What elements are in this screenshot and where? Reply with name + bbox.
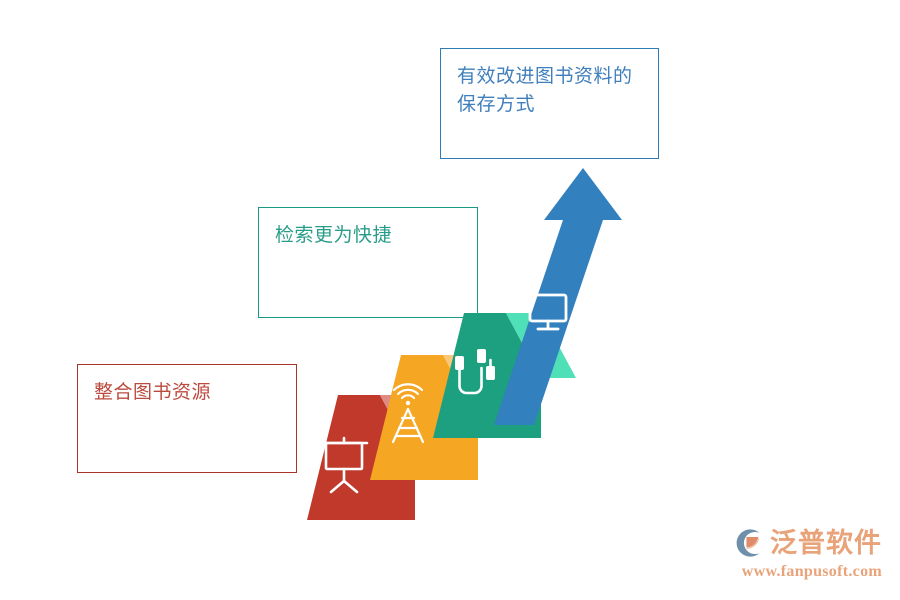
callout-box-bottom: 整合图书资源 (77, 364, 297, 473)
growth-arrow (494, 168, 622, 425)
infographic-canvas: 有效改进图书资料的保存方式 检索更为快捷 整合图书资源 (0, 0, 900, 600)
brand-url: www.fanpusoft.com (732, 563, 882, 581)
callout-text-top: 有效改进图书资料的保存方式 (457, 63, 642, 118)
brand-name: 泛普软件 (770, 530, 882, 557)
fanpu-logo-mark (732, 526, 766, 560)
ascending-arrow-graphic (290, 150, 650, 540)
callout-box-top: 有效改进图书资料的保存方式 (440, 48, 659, 159)
growth-arrow-shape (494, 168, 622, 425)
brand-logo: 泛普软件 www.fanpusoft.com (732, 526, 882, 586)
callout-text-bottom: 整合图书资源 (94, 379, 280, 407)
